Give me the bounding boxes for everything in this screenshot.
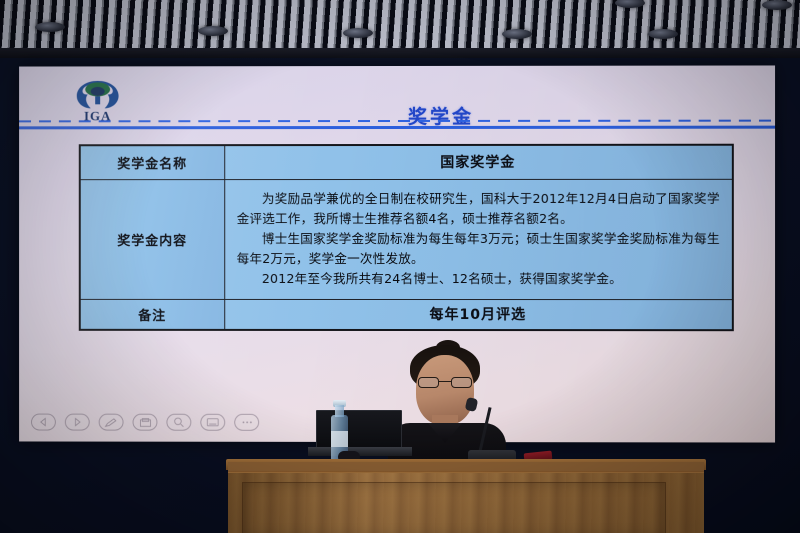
wooden-podium xyxy=(228,462,704,533)
previous-slide-button[interactable] xyxy=(31,414,56,431)
magnifier-icon xyxy=(173,417,184,428)
row-value-name: 国家奖学金 xyxy=(224,145,733,179)
presentation-icon xyxy=(139,417,151,427)
row-value-remark: 每年10月评选 xyxy=(224,299,733,330)
glasses-lens-right xyxy=(451,377,472,388)
bottle-label xyxy=(331,431,348,447)
iga-logo: IGA xyxy=(66,79,130,125)
content-paragraph-2: 博士生国家奖学金奖励标准为每生每年3万元；硕士生国家奖学金奖励标准为每生每年2万… xyxy=(237,228,720,268)
ceiling-light xyxy=(502,29,532,39)
triangle-right-icon xyxy=(73,418,82,427)
ppt-toolbar[interactable] xyxy=(31,414,259,431)
pen-tool-button[interactable] xyxy=(99,414,124,431)
glasses-lens-left xyxy=(418,377,439,388)
scholarship-table: 奖学金名称 国家奖学金 奖学金内容 为奖励品学兼优的全日制在校研究生，国科大于2… xyxy=(79,144,734,331)
presentation-options-button[interactable] xyxy=(133,414,158,431)
table-row-remark: 备注 每年10月评选 xyxy=(80,299,733,330)
laptop xyxy=(316,410,402,448)
triangle-left-icon xyxy=(39,418,48,427)
ceiling-light xyxy=(35,22,65,32)
slide-view-button[interactable] xyxy=(200,414,225,431)
table-row-name: 奖学金名称 国家奖学金 xyxy=(80,145,733,179)
content-paragraph-1: 为奖励品学兼优的全日制在校研究生，国科大于2012年12月4日启动了国家奖学金评… xyxy=(237,188,720,228)
table-row-content: 奖学金内容 为奖励品学兼优的全日制在校研究生，国科大于2012年12月4日启动了… xyxy=(80,179,733,299)
slide-title: 奖学金 xyxy=(408,102,474,129)
ceiling-light xyxy=(648,29,678,39)
row-value-content: 为奖励品学兼优的全日制在校研究生，国科大于2012年12月4日启动了国家奖学金评… xyxy=(224,179,733,299)
podium-face xyxy=(228,473,704,533)
next-slide-button[interactable] xyxy=(65,414,90,431)
slide-header: IGA 奖学金 xyxy=(19,65,775,128)
row-label-remark: 备注 xyxy=(80,299,224,330)
title-dashed-rule xyxy=(19,120,775,123)
content-paragraph-3: 2012年至今我所共有24名博士、12名硕士，获得国家奖学金。 xyxy=(237,268,720,288)
pen-icon xyxy=(105,417,118,427)
lecture-hall-scene: IGA 奖学金 奖学金名称 国家奖学金 奖学金内容 为奖励品学兼优的全日制在校研… xyxy=(0,0,800,533)
slide-icon xyxy=(206,418,219,427)
glasses-icon xyxy=(418,377,472,388)
ellipsis-icon xyxy=(241,420,253,425)
zoom-tool-button[interactable] xyxy=(166,414,191,431)
row-label-name: 奖学金名称 xyxy=(80,145,224,179)
glasses-bridge xyxy=(439,381,451,382)
iga-logo-mark xyxy=(75,79,121,110)
laptop-base xyxy=(308,447,412,456)
ceiling-light xyxy=(343,28,373,38)
ceiling-light xyxy=(615,0,645,8)
row-label-content: 奖学金内容 xyxy=(80,179,224,299)
ceiling-light xyxy=(198,26,228,36)
ceiling-light xyxy=(762,0,792,10)
more-options-button[interactable] xyxy=(234,414,259,431)
title-solid-rule xyxy=(19,126,775,130)
podium-panel xyxy=(242,482,666,533)
